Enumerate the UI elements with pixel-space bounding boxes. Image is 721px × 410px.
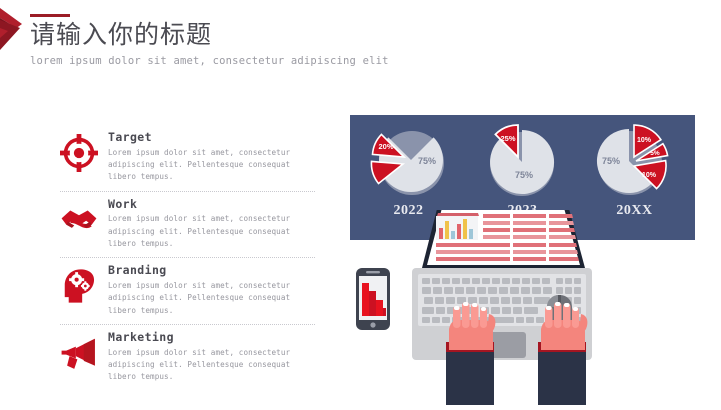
feature-description: Lorem ipsum dolor sit amet, consectetur …: [108, 213, 315, 250]
pie-chart-2022: 20% 5% 75%: [356, 120, 461, 202]
feature-title: Branding: [108, 264, 315, 278]
svg-text:5%: 5%: [379, 169, 389, 176]
feature-item-marketing[interactable]: Marketing Lorem ipsum dolor sit amet, co…: [60, 331, 315, 391]
chevron-decoration: [0, 6, 34, 52]
feature-title: Marketing: [108, 331, 315, 345]
page-subtitle: lorem ipsum dolor sit amet, consectetur …: [30, 55, 470, 67]
svg-text:75%: 75%: [602, 156, 620, 166]
feature-description: Lorem ipsum dolor sit amet, consectetur …: [108, 147, 315, 184]
svg-text:75%: 75%: [418, 156, 436, 166]
head-gears-icon: [60, 267, 98, 305]
slide-header: 请输入你的标题 lorem ipsum dolor sit amet, cons…: [30, 14, 470, 67]
right-illustration: 20% 5% 75% 2: [350, 115, 695, 405]
chevron-right-icon: [0, 6, 34, 52]
target-icon: [60, 134, 98, 172]
feature-list: Target Lorem ipsum dolor sit amet, conse…: [60, 131, 315, 397]
feature-description: Lorem ipsum dolor sit amet, consectetur …: [108, 280, 315, 317]
svg-text:5%: 5%: [650, 150, 660, 157]
svg-text:20%: 20%: [378, 142, 393, 151]
page-title: 请输入你的标题: [30, 22, 470, 50]
svg-text:10%: 10%: [637, 137, 652, 144]
pie-chart-20xx: 10% 5% 10% 75%: [582, 120, 687, 202]
pie-chart-2023: 25% 75%: [470, 120, 575, 202]
feature-item-branding[interactable]: Branding Lorem ipsum dolor sit amet, con…: [60, 264, 315, 325]
feature-item-work[interactable]: Work Lorem ipsum dolor sit amet, consect…: [60, 198, 315, 259]
feature-item-target[interactable]: Target Lorem ipsum dolor sit amet, conse…: [60, 131, 315, 192]
desk-scene: [350, 210, 695, 405]
svg-text:25%: 25%: [500, 134, 515, 143]
smartphone: [356, 268, 390, 330]
feature-title: Work: [108, 198, 315, 212]
feature-title: Target: [108, 131, 315, 145]
handshake-icon: [60, 201, 98, 239]
feature-description: Lorem ipsum dolor sit amet, consectetur …: [108, 347, 315, 384]
pie-chart-row: 20% 5% 75% 2: [350, 120, 695, 202]
megaphone-icon: [60, 334, 98, 372]
title-rule: [30, 14, 70, 17]
laptop-screen-chart: [436, 213, 479, 240]
svg-text:75%: 75%: [515, 170, 533, 180]
svg-text:10%: 10%: [642, 172, 657, 179]
